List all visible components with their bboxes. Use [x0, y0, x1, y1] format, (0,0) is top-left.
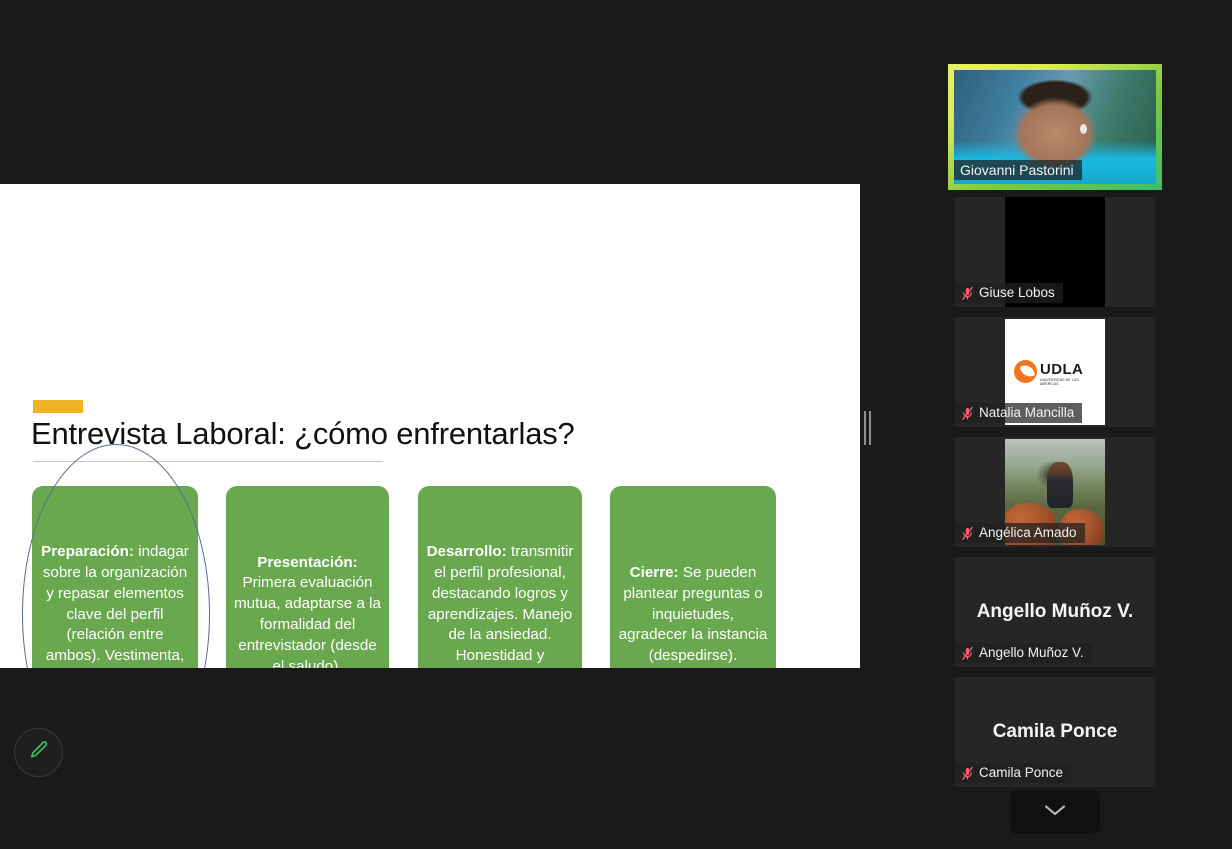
- mic-muted-icon: [961, 766, 974, 781]
- step-card-body: indagar sobre la organización y repasar …: [43, 543, 189, 668]
- participant-name-badge: Camila Ponce: [955, 763, 1071, 783]
- step-card-text: Preparación: indagar sobre la organizaci…: [39, 542, 191, 668]
- participant-tile-angello-munoz[interactable]: Angello Muñoz V. Angello Muñoz V.: [955, 557, 1155, 667]
- title-accent-bar: [33, 400, 83, 413]
- step-card-body: Primera evaluación mutua, adaptarse a la…: [234, 574, 381, 668]
- step-card-presentacion: Presentación: Primera evaluación mutua, …: [226, 486, 389, 668]
- participant-name: Angélica Amado: [979, 523, 1077, 543]
- title-divider: [33, 461, 383, 462]
- page-title: Entrevista Laboral: ¿cómo enfrentarlas?: [31, 416, 731, 452]
- chevron-down-icon: [1043, 803, 1067, 822]
- participant-tile-giovanni-pastorini[interactable]: Giovanni Pastorini: [948, 64, 1162, 190]
- participant-name-badge: Giuse Lobos: [955, 283, 1063, 303]
- participant-filmstrip[interactable]: Giovanni Pastorini Giuse Lobos UDLA UNIV…: [948, 64, 1162, 836]
- participant-name-badge: Angélica Amado: [955, 523, 1085, 543]
- participant-tile-giuse-lobos[interactable]: Giuse Lobos: [955, 197, 1155, 307]
- step-card-desarrollo: Desarrollo: transmitir el perfil profesi…: [418, 486, 582, 668]
- mic-muted-icon: [961, 526, 974, 541]
- participant-name-badge: Giovanni Pastorini: [954, 160, 1082, 180]
- step-card-heading: Desarrollo:: [427, 543, 507, 560]
- step-card-text: Presentación: Primera evaluación mutua, …: [233, 553, 382, 668]
- participant-name: Giuse Lobos: [979, 283, 1055, 303]
- participant-name: Giovanni Pastorini: [960, 160, 1074, 180]
- participant-name-badge: Angello Muñoz V.: [955, 643, 1092, 663]
- participant-name: Angello Muñoz V.: [979, 643, 1084, 663]
- filmstrip-expand-button[interactable]: [1010, 790, 1100, 834]
- step-card-preparacion: Preparación: indagar sobre la organizaci…: [32, 486, 198, 668]
- share-resize-handle[interactable]: [863, 411, 872, 445]
- participant-tile-angelica-amado[interactable]: Angélica Amado: [955, 437, 1155, 547]
- step-card-heading: Preparación:: [41, 543, 134, 560]
- pencil-icon: [28, 739, 50, 766]
- step-card-cierre: Cierre: Se pueden plantear preguntas o i…: [610, 486, 776, 668]
- participant-tile-camila-ponce[interactable]: Camila Ponce Camila Ponce: [955, 677, 1155, 787]
- mic-muted-icon: [961, 646, 974, 661]
- participant-tile-natalia-mancilla[interactable]: UDLA UNIVERSIDAD DE LAS AMÉRICAS Natalia…: [955, 317, 1155, 427]
- presentation-slide: Entrevista Laboral: ¿cómo enfrentarlas? …: [0, 184, 860, 668]
- participant-name-badge: Natalia Mancilla: [955, 403, 1082, 423]
- mic-muted-icon: [961, 286, 974, 301]
- step-card-body: transmitir el perfil profesional, destac…: [428, 543, 574, 668]
- participant-name: Natalia Mancilla: [979, 403, 1074, 423]
- udla-wordmark: UDLA: [1040, 361, 1083, 378]
- mic-muted-icon: [961, 406, 974, 421]
- shared-screen-region[interactable]: Entrevista Laboral: ¿cómo enfrentarlas? …: [0, 184, 860, 668]
- step-card-text: Cierre: Se pueden plantear preguntas o i…: [617, 563, 769, 667]
- udla-tagline: UNIVERSIDAD DE LAS AMÉRICAS: [1040, 378, 1096, 386]
- annotate-button[interactable]: [14, 728, 63, 777]
- step-card-heading: Cierre:: [630, 564, 679, 581]
- participant-name: Camila Ponce: [979, 763, 1063, 783]
- step-card-heading: Presentación:: [257, 554, 357, 571]
- step-card-text: Desarrollo: transmitir el perfil profesi…: [425, 542, 575, 668]
